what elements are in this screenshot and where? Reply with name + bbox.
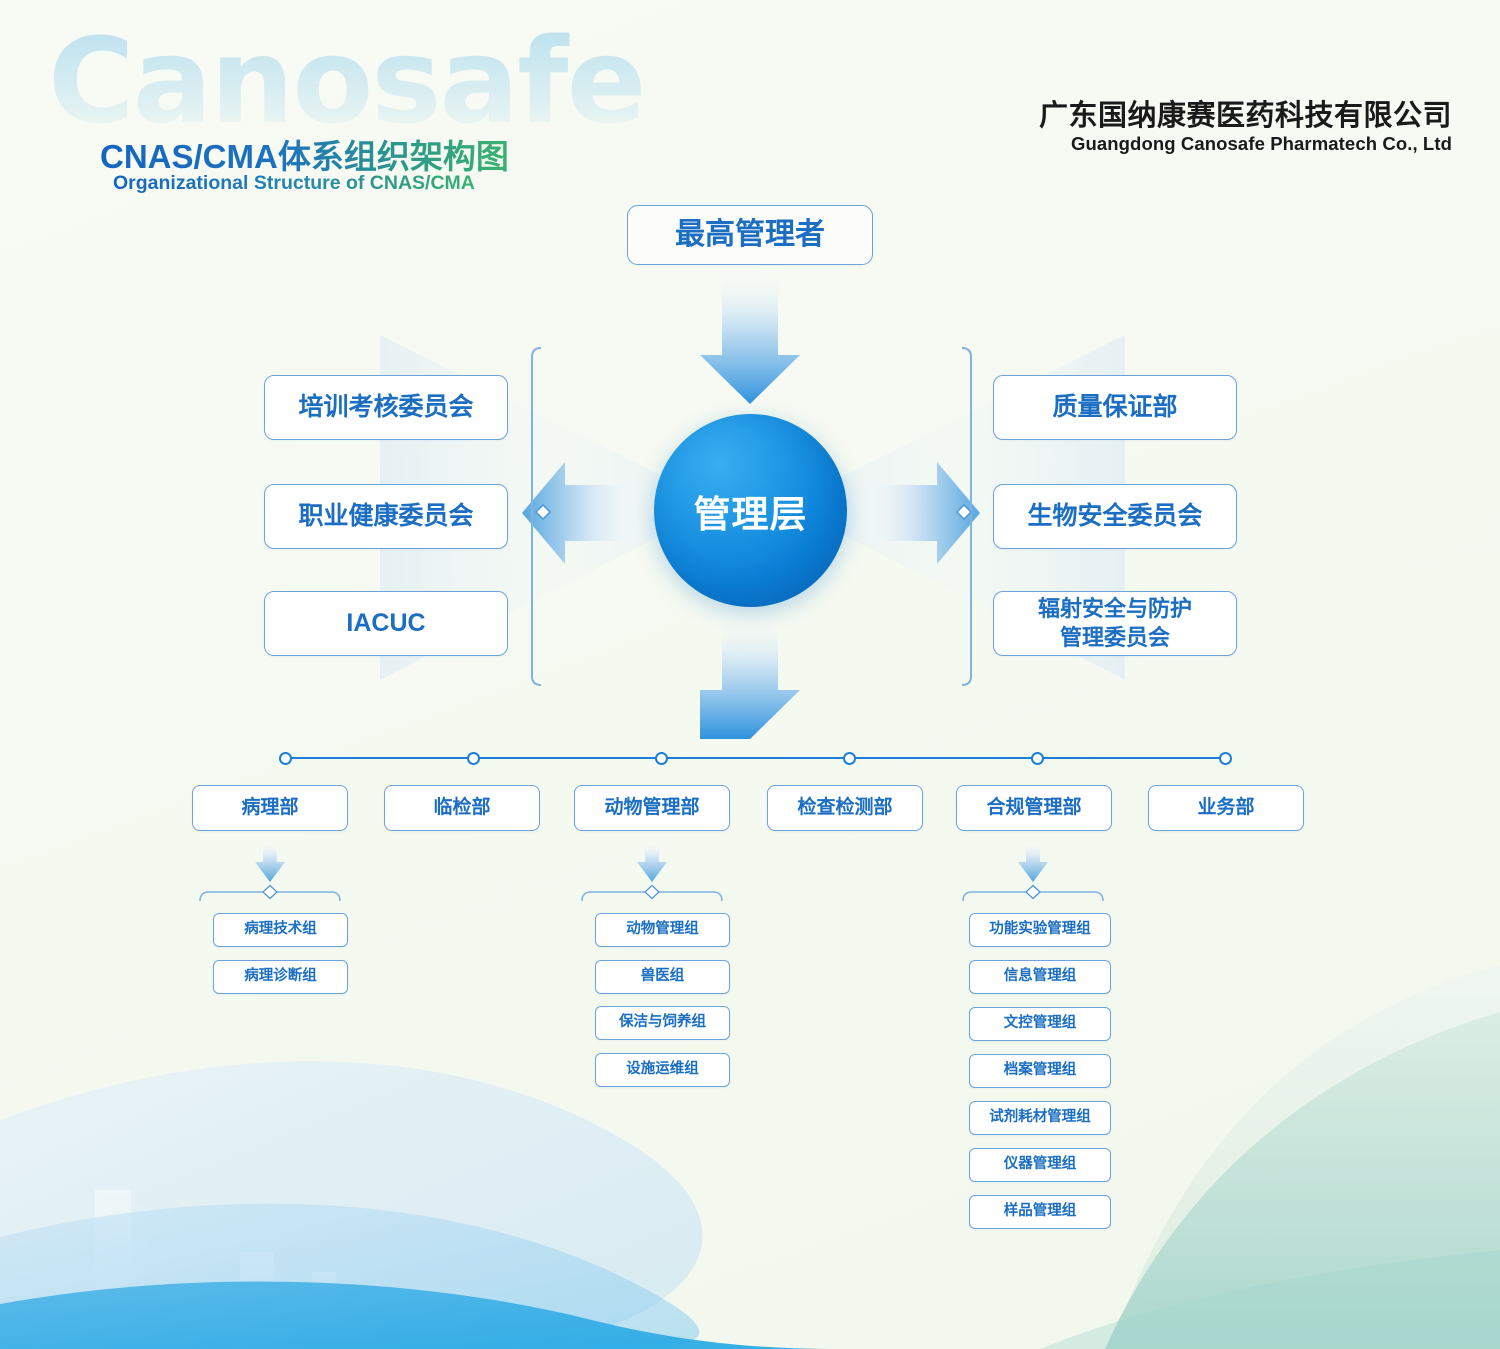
arrow-left-core bbox=[522, 462, 645, 564]
node-right-committee-3[interactable]: 辐射安全与防护 管理委员会 bbox=[993, 591, 1237, 656]
node-left-committee-3[interactable]: IACUC bbox=[264, 591, 508, 656]
node-department-pathology[interactable]: 病理部 bbox=[192, 785, 348, 831]
node-group-compliance-6[interactable]: 仪器管理组 bbox=[969, 1148, 1111, 1182]
arrow-down-core bbox=[700, 615, 800, 739]
node-right-committee-3-line2: 管理委员会 bbox=[1060, 625, 1170, 650]
rail-node-2[interactable] bbox=[467, 752, 480, 765]
rail-node-6[interactable] bbox=[1219, 752, 1232, 765]
node-group-compliance-4[interactable]: 档案管理组 bbox=[969, 1054, 1111, 1088]
node-top-manager[interactable]: 最高管理者 bbox=[627, 205, 873, 265]
node-group-animal-2[interactable]: 兽医组 bbox=[595, 960, 730, 994]
node-left-committee-2[interactable]: 职业健康委员会 bbox=[264, 484, 508, 549]
node-department-animal[interactable]: 动物管理部 bbox=[574, 785, 730, 831]
node-right-committee-1[interactable]: 质量保证部 bbox=[993, 375, 1237, 440]
rail-node-3[interactable] bbox=[655, 752, 668, 765]
node-group-compliance-3[interactable]: 文控管理组 bbox=[969, 1007, 1111, 1041]
page-title-en: Organizational Structure of CNAS/CMA bbox=[113, 172, 475, 195]
department-rail bbox=[286, 757, 1229, 759]
rail-node-4[interactable] bbox=[843, 752, 856, 765]
node-group-animal-3[interactable]: 保洁与饲养组 bbox=[595, 1006, 730, 1040]
arrow-down-top bbox=[700, 268, 800, 404]
background-decoration bbox=[0, 0, 1500, 1349]
node-department-business[interactable]: 业务部 bbox=[1148, 785, 1304, 831]
arrow-dept-pathology bbox=[255, 841, 285, 882]
company-name-cn: 广东国纳康赛医药科技有限公司 bbox=[1039, 92, 1452, 134]
node-group-compliance-1[interactable]: 功能实验管理组 bbox=[969, 913, 1111, 947]
page-title-cn: CNAS/CMA体系组织架构图 bbox=[100, 130, 509, 178]
brand-watermark: Canosafe bbox=[48, 22, 645, 140]
arrow-right-core bbox=[857, 462, 980, 564]
node-department-inspection[interactable]: 检查检测部 bbox=[767, 785, 923, 831]
node-group-compliance-2[interactable]: 信息管理组 bbox=[969, 960, 1111, 994]
node-management-layer[interactable]: 管理层 bbox=[654, 414, 847, 607]
arrow-dept-compliance bbox=[1018, 841, 1048, 882]
rail-node-1[interactable] bbox=[279, 752, 292, 765]
node-group-pathology-2[interactable]: 病理诊断组 bbox=[213, 960, 348, 994]
node-left-committee-1[interactable]: 培训考核委员会 bbox=[264, 375, 508, 440]
node-group-pathology-1[interactable]: 病理技术组 bbox=[213, 913, 348, 947]
org-chart-canvas: Canosafe CNAS/CMA体系组织架构图 Organizational … bbox=[0, 0, 1500, 1349]
arrow-dept-animal bbox=[637, 841, 667, 882]
node-group-animal-4[interactable]: 设施运维组 bbox=[595, 1053, 730, 1087]
company-name-en: Guangdong Canosafe Pharmatech Co., Ltd bbox=[1071, 133, 1452, 155]
node-group-compliance-5[interactable]: 试剂耗材管理组 bbox=[969, 1101, 1111, 1135]
node-group-animal-1[interactable]: 动物管理组 bbox=[595, 913, 730, 947]
node-department-compliance[interactable]: 合规管理部 bbox=[956, 785, 1112, 831]
node-department-clinical[interactable]: 临检部 bbox=[384, 785, 540, 831]
rail-node-5[interactable] bbox=[1031, 752, 1044, 765]
node-group-compliance-7[interactable]: 样品管理组 bbox=[969, 1195, 1111, 1229]
node-right-committee-3-line1: 辐射安全与防护 bbox=[1038, 596, 1192, 621]
node-right-committee-2[interactable]: 生物安全委员会 bbox=[993, 484, 1237, 549]
